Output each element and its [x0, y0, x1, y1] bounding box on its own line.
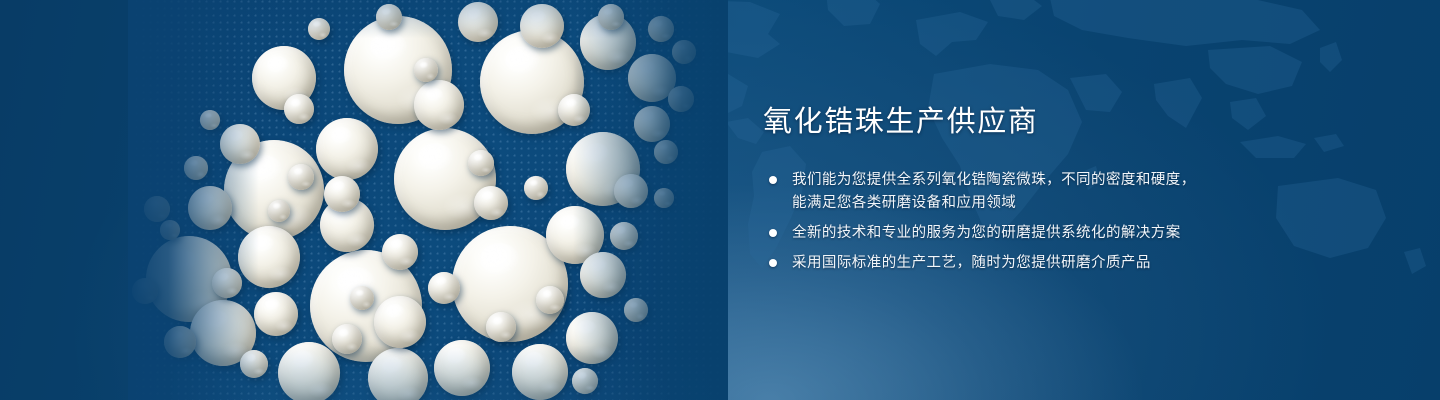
list-item-line: 采用国际标准的生产工艺，随时为您提供研磨介质产品 [792, 252, 1233, 275]
bead [144, 196, 170, 222]
bead [512, 344, 568, 400]
bead [614, 174, 648, 208]
bead [672, 40, 696, 64]
bead [654, 140, 678, 164]
dot-bullet-icon [769, 176, 777, 184]
page-title: 氧化锆珠生产供应商 [763, 104, 1233, 142]
bead [160, 220, 180, 240]
list-item-line: 我们能为您提供全系列氧化锆陶瓷微珠，不同的密度和硬度， [792, 169, 1233, 192]
bead [434, 340, 490, 396]
bead [278, 342, 340, 400]
bead [240, 350, 268, 378]
bead [468, 150, 494, 176]
list-item: 我们能为您提供全系列氧化锆陶瓷微珠，不同的密度和硬度， 能满足您各类研磨设备和应… [763, 169, 1233, 215]
dot-bullet-icon [769, 259, 777, 267]
bead [458, 2, 498, 42]
list-item-line: 能满足您各类研磨设备和应用领域 [792, 192, 1233, 215]
bead [268, 200, 290, 222]
bead [566, 312, 618, 364]
bead [184, 156, 208, 180]
bead [648, 16, 674, 42]
bead [212, 268, 242, 298]
hero-banner: 氧化锆珠生产供应商 我们能为您提供全系列氧化锆陶瓷微珠，不同的密度和硬度， 能满… [0, 0, 1440, 400]
bead [350, 286, 374, 310]
bead [164, 326, 196, 358]
bead [238, 226, 300, 288]
bead [520, 4, 564, 48]
bead [254, 292, 298, 336]
bead [634, 106, 670, 142]
bead [376, 4, 402, 30]
bead [220, 124, 260, 164]
bead [428, 272, 460, 304]
bead [368, 348, 428, 400]
bead [414, 58, 438, 82]
bead [486, 312, 516, 342]
bead [580, 252, 626, 298]
bead [668, 86, 694, 112]
banner-content: 氧化锆珠生产供应商 我们能为您提供全系列氧化锆陶瓷微珠，不同的密度和硬度， 能满… [763, 104, 1233, 275]
list-item: 全新的技术和专业的服务为您的研磨提供系统化的解决方案 [763, 222, 1233, 245]
bead [598, 4, 624, 30]
bead [524, 176, 548, 200]
bead [324, 176, 360, 212]
bead [284, 94, 314, 124]
bead [288, 164, 314, 190]
bead [414, 80, 464, 130]
bead [132, 278, 158, 304]
bead [558, 94, 590, 126]
bead [188, 186, 232, 230]
dot-bullet-icon [769, 229, 777, 237]
bead [308, 18, 330, 40]
bead [474, 186, 508, 220]
bead [572, 368, 598, 394]
bead [624, 298, 648, 322]
list-item: 采用国际标准的生产工艺，随时为您提供研磨介质产品 [763, 252, 1233, 275]
zirconia-beads-photo [128, 0, 728, 400]
bead [610, 222, 638, 250]
bead [536, 286, 564, 314]
bead [316, 118, 378, 180]
feature-list: 我们能为您提供全系列氧化锆陶瓷微珠，不同的密度和硬度， 能满足您各类研磨设备和应… [763, 169, 1233, 275]
bead [332, 324, 362, 354]
list-item-line: 全新的技术和专业的服务为您的研磨提供系统化的解决方案 [792, 222, 1233, 245]
bead [654, 188, 674, 208]
bead [200, 110, 220, 130]
bead [374, 296, 426, 348]
bead [382, 234, 418, 270]
